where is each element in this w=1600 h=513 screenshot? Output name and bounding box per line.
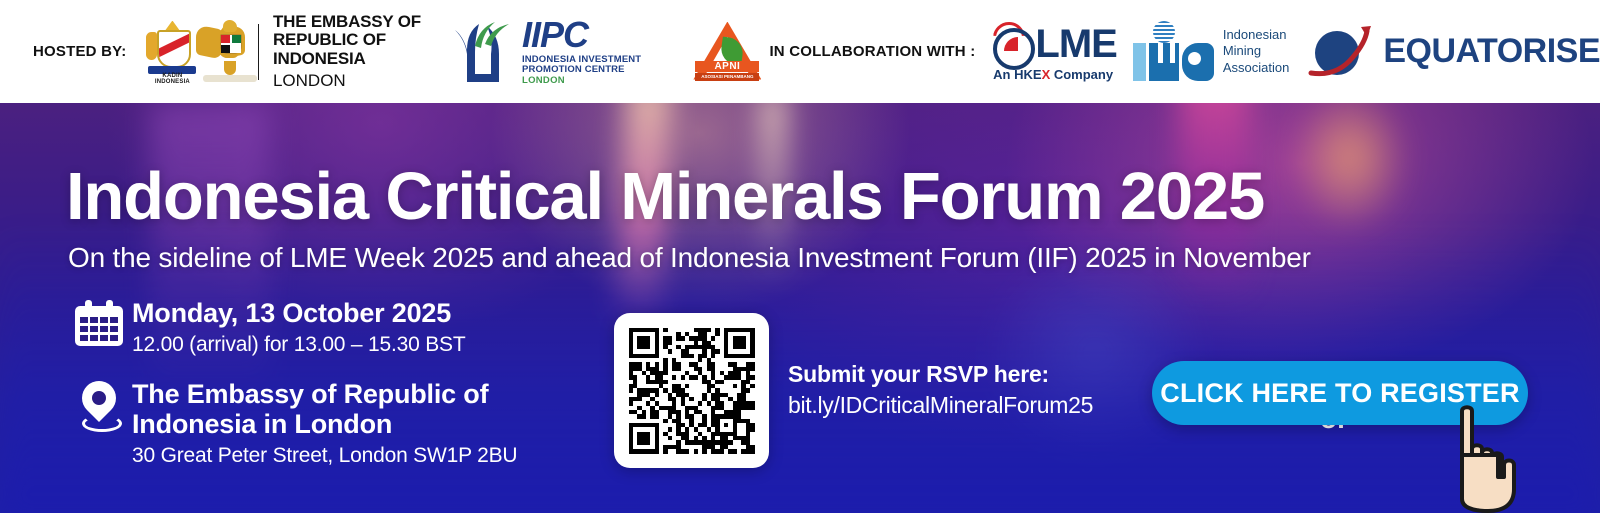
indonesian-mining-association-logo: Indonesian Mining Association: [1131, 21, 1289, 83]
page-subtitle: On the sideline of LME Week 2025 and ahe…: [68, 242, 1311, 274]
embassy-republic-indonesia-london-logo: THE EMBASSY OF REPUBLIC OF INDONESIA LON…: [273, 13, 425, 89]
iipc-subtitle: INDONESIA INVESTMENT PROMOTION CENTRE: [522, 55, 665, 74]
page-title: Indonesia Critical Minerals Forum 2025: [66, 158, 1264, 235]
equatorise-mark-icon: [1307, 23, 1377, 81]
hero-section: Indonesia Critical Minerals Forum 2025 O…: [0, 103, 1600, 513]
rsvp-qr-code[interactable]: [614, 313, 769, 468]
venue-address: 30 Great Peter Street, London SW1P 2BU: [132, 443, 517, 468]
rsvp-url[interactable]: bit.ly/IDCriticalMineralForum25: [788, 392, 1093, 419]
hosted-by-label: HOSTED BY:: [33, 43, 126, 60]
iipc-mark-icon: [453, 20, 515, 84]
event-date-row: Monday, 13 October 2025 12.00 (arrival) …: [66, 298, 606, 357]
rsvp-heading: Submit your RSVP here:: [788, 361, 1093, 388]
ima-line-1: Indonesian: [1223, 27, 1289, 44]
embassy-line-1: THE EMBASSY OF: [273, 13, 425, 31]
in-collaboration-with-label: IN COLLABORATION WITH :: [769, 43, 975, 60]
logo-divider: [258, 24, 259, 80]
embassy-line-2: REPUBLIC OF INDONESIA: [273, 31, 425, 67]
lme-mark-icon: [989, 22, 1033, 66]
venue-name-line-2: Indonesia in London: [132, 409, 517, 440]
event-date-headline: Monday, 13 October 2025: [132, 298, 465, 329]
event-details: Monday, 13 October 2025 12.00 (arrival) …: [66, 298, 606, 468]
partner-logo-bar: HOSTED BY: KADIN INDONESIA THE EMBASSY O…: [0, 0, 1600, 103]
kadin-indonesia-logo: KADIN INDONESIA: [144, 20, 185, 84]
event-venue-row: The Embassy of Republic of Indonesia in …: [66, 379, 606, 468]
event-time-detail: 12.00 (arrival) for 13.00 – 15.30 BST: [132, 332, 465, 357]
venue-name-line-1: The Embassy of Republic of: [132, 379, 517, 410]
calendar-icon-wrap: [66, 298, 132, 346]
iipc-logo: IIPC INDONESIA INVESTMENT PROMOTION CENT…: [453, 17, 665, 86]
apni-subtitle: ASOSIASI PENAMBANG NIKEL INDONESIA: [695, 73, 759, 89]
embassy-line-3: LONDON: [273, 72, 425, 90]
location-pin-icon-wrap: [66, 379, 132, 435]
event-banner: HOSTED BY: KADIN INDONESIA THE EMBASSY O…: [0, 0, 1600, 513]
iipc-city: LONDON: [522, 76, 665, 86]
equatorise-logo: EQUATORISE: [1307, 23, 1600, 81]
lme-wordmark: LME: [1035, 26, 1116, 62]
garuda-emblem-logo: [195, 21, 246, 83]
ima-line-3: Association: [1223, 60, 1289, 77]
pointing-hand-icon: [1440, 403, 1536, 513]
location-pin-icon: [76, 381, 122, 435]
equatorise-wordmark: EQUATORISE: [1383, 32, 1600, 71]
rsvp-text-block: Submit your RSVP here: bit.ly/IDCritical…: [788, 361, 1093, 419]
collaborator-logos: LME An HKEX Company Indonesian Mining As…: [975, 21, 1600, 83]
iipc-wordmark: IIPC: [522, 17, 665, 53]
host-logos: KADIN INDONESIA THE EMBASSY OF REPUBLIC …: [126, 13, 743, 89]
ima-mark-icon: [1131, 21, 1217, 83]
calendar-icon: [75, 300, 123, 346]
kadin-caption: KADIN INDONESIA: [144, 73, 200, 85]
qr-code-matrix: [629, 328, 755, 454]
ima-line-2: Mining: [1223, 43, 1289, 60]
lme-logo: LME An HKEX Company: [989, 22, 1116, 82]
apni-wordmark: APNI: [695, 61, 759, 72]
apni-logo: APNI ASOSIASI PENAMBANG NIKEL INDONESIA: [691, 20, 743, 84]
